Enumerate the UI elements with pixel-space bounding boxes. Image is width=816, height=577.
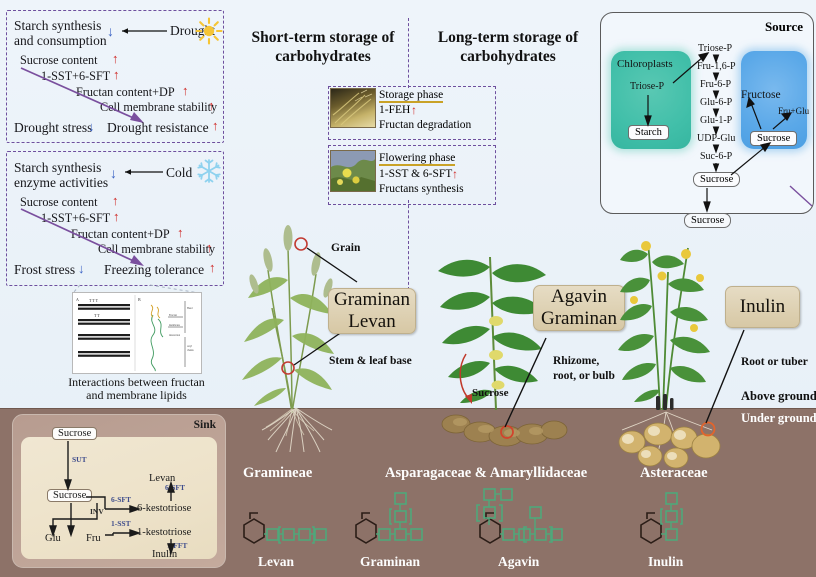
cold-item-1-arrow: ↑ — [113, 209, 120, 225]
asteraceae-fructan-box: Inulin — [725, 286, 800, 328]
drought-starch-line2: and consumption — [14, 33, 107, 49]
inulin-structure — [633, 490, 733, 550]
snowflake-icon — [196, 158, 222, 184]
flowering-phase-title-wrap: Flowering phase — [379, 152, 455, 166]
gramineae-fructan-box: Graminan Levan — [328, 288, 416, 334]
short-term-heading-line2: carbohydrates — [228, 47, 418, 66]
svg-text:membrane: membrane — [169, 324, 181, 327]
source-chain-5: UDP-Glu — [697, 133, 735, 144]
chloroplast-label: Chloroplasts — [617, 58, 673, 70]
structure-label-graminan: Graminan — [360, 554, 420, 570]
levan-node: Levan — [149, 473, 175, 484]
structure-label-agavin: Agavin — [498, 554, 539, 570]
section-divider-top — [408, 18, 409, 88]
asteraceae-plant-image — [600, 232, 730, 410]
drought-resistance-result: Drought resistance — [107, 120, 209, 136]
sun-icon — [195, 17, 223, 45]
source-chain-0: Triose-P — [698, 43, 732, 54]
svg-text:Acyl: Acyl — [187, 345, 192, 348]
cold-stress-result-arrow: ↓ — [78, 261, 85, 277]
cold-item-0: Sucrose content — [20, 195, 98, 210]
structure-label-levan: Levan — [258, 554, 294, 570]
asteraceae-fructan-line1: Inulin — [740, 296, 785, 318]
section-divider-bottom — [408, 200, 409, 290]
family-label-asteraceae: Asteraceae — [640, 465, 708, 482]
drought-item-3: Cell membrane stability — [100, 100, 217, 115]
freezing-tolerance-result-arrow: ↑ — [209, 260, 216, 276]
drought-item-0: Sucrose content — [20, 53, 98, 68]
storage-phase-process: Fructan degradation — [379, 119, 471, 131]
figure-root: Starch synthesis and consumption ↓ Droug… — [0, 0, 816, 577]
cytosol-sucrose-node: Sucrose — [693, 172, 740, 187]
exported-sucrose-node: Sucrose — [684, 213, 731, 228]
inv-enzyme-label: INV — [90, 507, 104, 516]
6sft-enzyme-a-label: 6-SFT — [111, 495, 131, 504]
storage-phase-title: Storage phase — [379, 89, 443, 103]
apoplast-sucrose-node: Sucrose — [52, 427, 97, 440]
6sft-enzyme-b-label: 6-SFT — [165, 483, 185, 492]
gramineae-roots — [252, 408, 342, 458]
drought-stress-result-arrow: ↓ — [88, 119, 95, 135]
storage-phase-enzyme: 1-FEH — [379, 104, 410, 116]
glu-node: Glu — [45, 533, 61, 544]
cold-stressor-label: Cold — [166, 165, 192, 181]
sink-panel: Sink Sucrose SUT Sucrose INV Glu Fru 6-S… — [12, 414, 226, 568]
svg-text:Head: Head — [187, 307, 193, 310]
flowering-phase-title: Flowering phase — [379, 152, 455, 166]
storage-phase-enzyme-arrow: ↑ — [411, 103, 417, 118]
source-chain-2: Fru-6-P — [700, 79, 731, 90]
storage-phase-title-wrap: Storage phase — [379, 89, 443, 103]
cold-starch-line1: Starch synthesis — [14, 160, 101, 176]
membrane-caption-line2: and membrane lipids — [44, 388, 229, 402]
asparagaceae-organ-label-l1: Rhizome, — [553, 355, 599, 367]
asparagaceae-sucrose-label: Sucrose — [472, 387, 508, 399]
svg-text:A: A — [76, 297, 79, 302]
drought-item-2: Fructan content+DP — [76, 85, 175, 100]
cold-item-2: Fructan content+DP — [71, 227, 170, 242]
inulin-node: Inulin — [152, 549, 177, 560]
1sst-enzyme-label: 1-SST — [111, 519, 131, 528]
cold-stress-result: Frost stress — [14, 262, 75, 278]
yellow-flower-photo — [330, 150, 376, 192]
short-term-heading-line1: Short-term storage of — [228, 28, 418, 47]
source-chain-3: Glu-6-P — [700, 97, 732, 108]
wheat-spike-photo — [330, 88, 376, 128]
membrane-caption-line1: Interactions between fructan — [44, 375, 229, 389]
gramineae-organ-bottom-label: Stem & leaf base — [329, 355, 412, 367]
source-chain-4: Glu-1-P — [700, 115, 732, 126]
svg-text:Fructan: Fructan — [169, 314, 178, 317]
drought-stress-result: Drought stress — [14, 120, 92, 136]
6-kestotriose-node: 6-kestotriose — [137, 503, 191, 514]
cold-item-3-arrow: ↑ — [206, 240, 213, 256]
sink-title: Sink — [194, 419, 216, 431]
levan-structure — [236, 505, 341, 550]
gramineae-organ-top-label: Grain — [331, 242, 360, 254]
drought-starch-line1: Starch synthesis — [14, 18, 101, 34]
asparagaceae-rhizome — [440, 414, 570, 454]
freezing-tolerance-result: Freezing tolerance — [104, 262, 204, 278]
source-chain-1: Fru-1,6-P — [697, 61, 736, 72]
cold-item-1: 1-SST+6-SFT — [41, 211, 110, 226]
asteraceae-tubers — [608, 412, 728, 468]
svg-text:chains: chains — [187, 349, 194, 352]
drought-item-1-arrow: ↑ — [113, 67, 120, 83]
family-label-gramineae: Gramineae — [243, 465, 312, 482]
vacuole-sucrose-node: Sucrose — [750, 131, 797, 146]
svg-text:T T: T T — [94, 313, 100, 318]
starch-node: Starch — [628, 125, 669, 140]
graminan-structure — [348, 490, 463, 550]
cold-item-3: Cell membrane stability — [98, 242, 215, 257]
agavin-structure — [470, 485, 595, 550]
flowering-phase-process: Fructans synthesis — [379, 183, 464, 195]
flowering-phase-enzyme: 1-SST & 6-SFT — [379, 168, 452, 180]
svg-text:interaction: interaction — [169, 334, 181, 337]
fru-node: Fru — [86, 533, 101, 544]
gramineae-fructan-line2: Levan — [334, 311, 410, 333]
drought-starch-down-arrow: ↓ — [107, 25, 114, 41]
vacuolar-sucrose-node: Sucrose — [47, 489, 92, 502]
drought-resistance-result-arrow: ↑ — [212, 118, 219, 134]
under-ground-label: Under ground — [741, 411, 816, 426]
drought-item-1: 1-SST+6-SFT — [41, 69, 110, 84]
source-panel: Source Chloroplasts Triose-P Starch Fruc… — [600, 12, 814, 214]
flowering-phase-enzyme-arrow: ↑ — [452, 167, 458, 182]
cold-starch-line2: enzyme activities — [14, 175, 108, 191]
1-kestotriose-node: 1-kestotriose — [137, 527, 191, 538]
membrane-lipid-figure: A B T T T T T — [72, 292, 202, 374]
svg-text:T T T: T T T — [89, 298, 99, 303]
source-chain-6: Suc-6-P — [700, 151, 732, 162]
structure-label-inulin: Inulin — [648, 554, 683, 570]
gramineae-fructan-line1: Graminan — [334, 289, 410, 311]
vacuole-fructose: Fructose — [741, 89, 781, 101]
cold-item-2-arrow: ↑ — [177, 225, 184, 241]
svg-text:B: B — [138, 297, 141, 302]
sut-transporter-label: SUT — [72, 455, 87, 464]
long-term-heading-line1: Long-term storage of — [418, 28, 598, 47]
vacuole-fru-glu: Fru+Glu — [778, 106, 809, 116]
chloroplast-triose-p: Triose-P — [630, 81, 664, 92]
cold-starch-down-arrow: ↓ — [110, 167, 117, 183]
drought-item-2-arrow: ↑ — [182, 83, 189, 99]
above-ground-label: Above ground — [741, 389, 816, 404]
drought-item-3-arrow: ↑ — [208, 98, 215, 114]
family-label-asparagaceae: Asparagaceae & Amaryllidaceae — [385, 465, 587, 482]
source-title: Source — [765, 19, 803, 35]
long-term-heading-line2: carbohydrates — [418, 47, 598, 66]
drought-item-0-arrow: ↑ — [112, 51, 119, 67]
asteraceae-organ-label: Root or tuber — [741, 356, 808, 368]
cold-item-0-arrow: ↑ — [112, 193, 119, 209]
